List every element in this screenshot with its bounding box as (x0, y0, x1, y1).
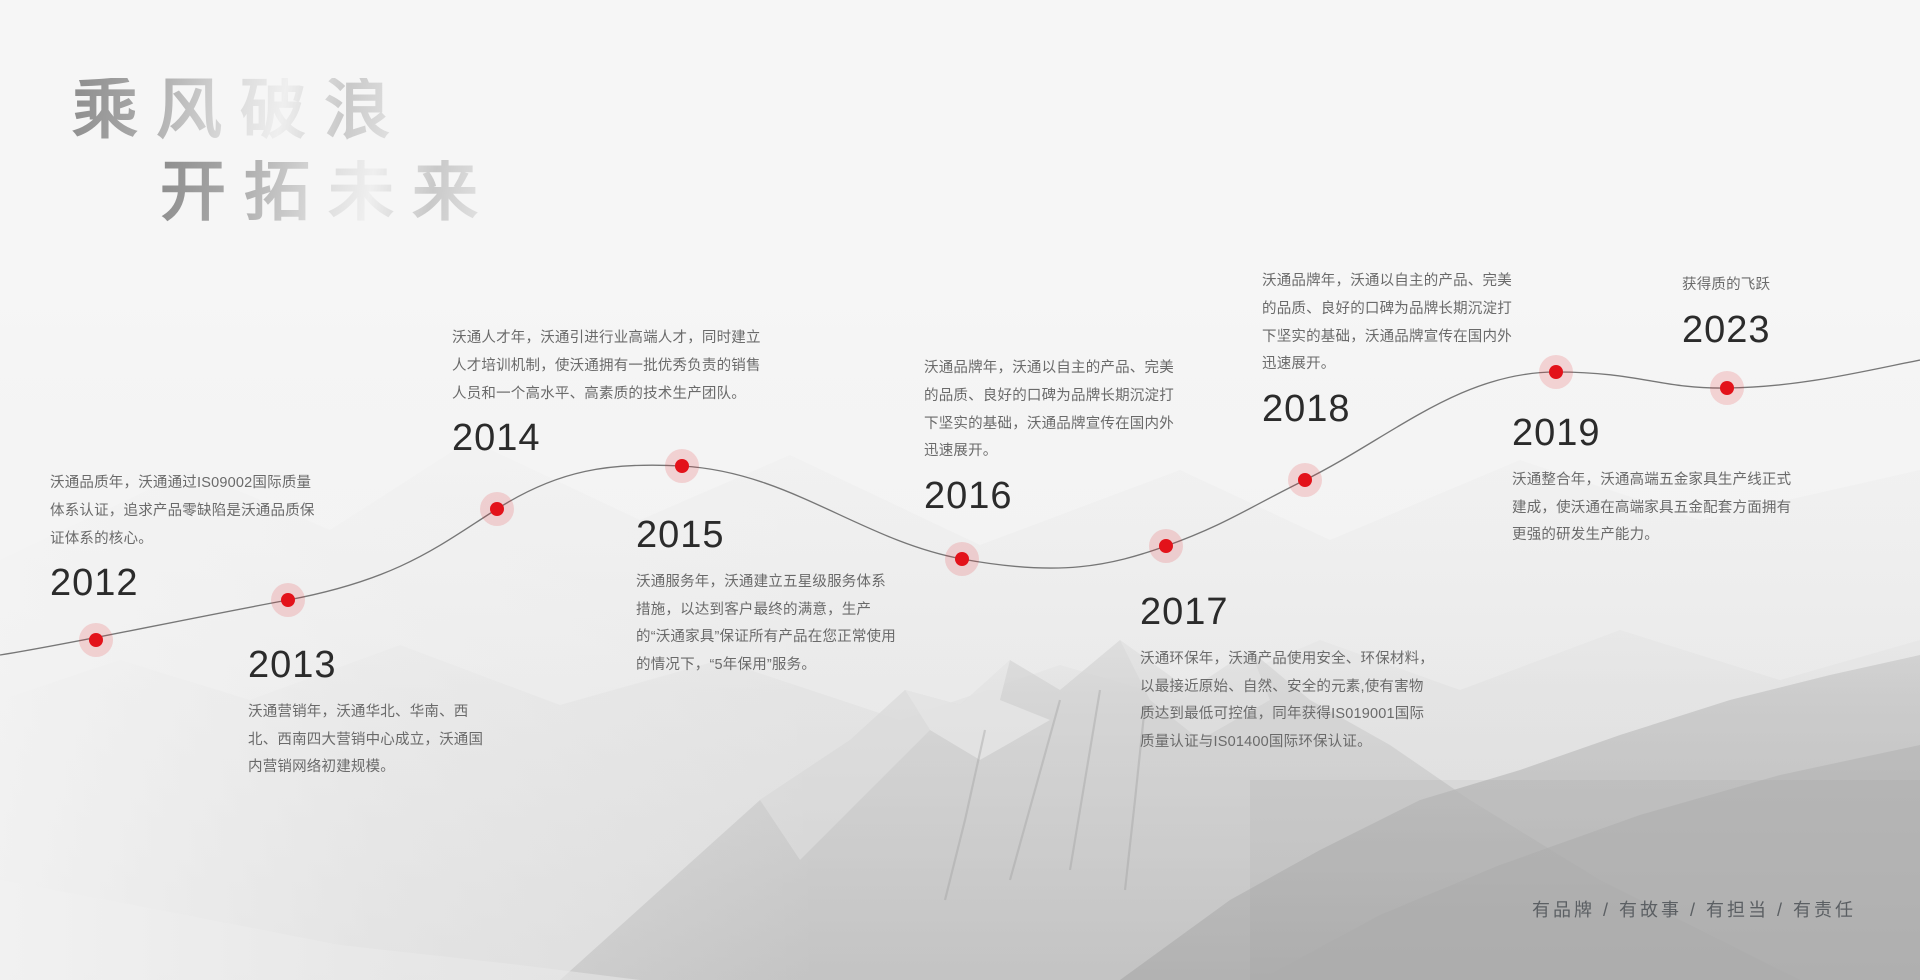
milestone-year: 2023 (1682, 310, 1892, 352)
milestone-2016[interactable]: 沃通品牌年，沃通以自主的产品、完美的品质、良好的口碑为品牌长期沉淀打下坚实的基础… (924, 355, 1186, 518)
milestone-year: 2018 (1262, 389, 1522, 431)
milestone-description: 沃通品质年，沃通通过IS09002国际质量体系认证，追求产品零缺陷是沃通品质保证… (50, 470, 316, 553)
milestone-year: 2019 (1512, 413, 1804, 455)
timeline-dot-2013[interactable] (271, 583, 305, 617)
milestone-description: 沃通环保年，沃通产品使用安全、环保材料，以最接近原始、自然、安全的元素,使有害物… (1140, 646, 1435, 757)
milestone-year: 2016 (924, 476, 1186, 518)
milestone-year: 2017 (1140, 592, 1435, 634)
milestone-description: 沃通服务年，沃通建立五星级服务体系措施，以达到客户最终的满意，生产的“沃通家具”… (636, 569, 898, 680)
footer-tagline: 有品牌 / 有故事 / 有担当 / 有责任 (1532, 896, 1856, 922)
milestone-year: 2013 (248, 645, 496, 687)
timeline-dot-2014[interactable] (480, 492, 514, 526)
timeline-dot-2017[interactable] (1149, 529, 1183, 563)
milestone-description: 沃通整合年，沃通高端五金家具生产线正式建成，使沃通在高端家具五金配套方面拥有更强… (1512, 467, 1804, 550)
timeline-dot-core (490, 502, 504, 516)
timeline-dot-core (675, 459, 689, 473)
timeline-poster: 乘风破浪 开拓未来 沃通品质年，沃通通过IS09002国际质量体系认证，追求产品… (0, 0, 1920, 980)
timeline-dot-core (1720, 381, 1734, 395)
milestone-description: 沃通品牌年，沃通以自主的产品、完美的品质、良好的口碑为品牌长期沉淀打下坚实的基础… (1262, 268, 1522, 379)
timeline-dot-2016[interactable] (945, 542, 979, 576)
timeline-dot-core (89, 633, 103, 647)
milestone-description: 沃通品牌年，沃通以自主的产品、完美的品质、良好的口碑为品牌长期沉淀打下坚实的基础… (924, 355, 1186, 466)
milestone-2018[interactable]: 沃通品牌年，沃通以自主的产品、完美的品质、良好的口碑为品牌长期沉淀打下坚实的基础… (1262, 268, 1522, 431)
milestone-2013[interactable]: 2013 沃通营销年，沃通华北、华南、西北、西南四大营销中心成立，沃通国内营销网… (248, 645, 496, 782)
timeline-dot-2012[interactable] (79, 623, 113, 657)
milestone-description: 沃通人才年，沃通引进行业高端人才，同时建立人才培训机制，使沃通拥有一批优秀负责的… (452, 325, 762, 408)
milestone-description: 获得质的飞跃 (1682, 272, 1892, 300)
timeline-dot-core (281, 593, 295, 607)
milestone-year: 2015 (636, 515, 898, 557)
timeline-dot-core (1298, 473, 1312, 487)
timeline-dot-2023[interactable] (1710, 371, 1744, 405)
timeline-dot-2015[interactable] (665, 449, 699, 483)
timeline-dot-2018[interactable] (1288, 463, 1322, 497)
milestone-2017[interactable]: 2017 沃通环保年，沃通产品使用安全、环保材料，以最接近原始、自然、安全的元素… (1140, 592, 1435, 757)
timeline-dot-core (1159, 539, 1173, 553)
milestone-2023[interactable]: 获得质的飞跃 2023 (1682, 272, 1892, 352)
timeline-dot-2019[interactable] (1539, 355, 1573, 389)
milestone-year: 2014 (452, 418, 762, 460)
milestone-2012[interactable]: 沃通品质年，沃通通过IS09002国际质量体系认证，追求产品零缺陷是沃通品质保证… (50, 470, 316, 605)
milestone-2014[interactable]: 沃通人才年，沃通引进行业高端人才，同时建立人才培训机制，使沃通拥有一批优秀负责的… (452, 325, 762, 460)
timeline-dot-core (955, 552, 969, 566)
milestone-description: 沃通营销年，沃通华北、华南、西北、西南四大营销中心成立，沃通国内营销网络初建规模… (248, 699, 496, 782)
milestone-2019[interactable]: 2019 沃通整合年，沃通高端五金家具生产线正式建成，使沃通在高端家具五金配套方… (1512, 413, 1804, 550)
milestone-2015[interactable]: 2015 沃通服务年，沃通建立五星级服务体系措施，以达到客户最终的满意，生产的“… (636, 515, 898, 680)
timeline-dot-core (1549, 365, 1563, 379)
